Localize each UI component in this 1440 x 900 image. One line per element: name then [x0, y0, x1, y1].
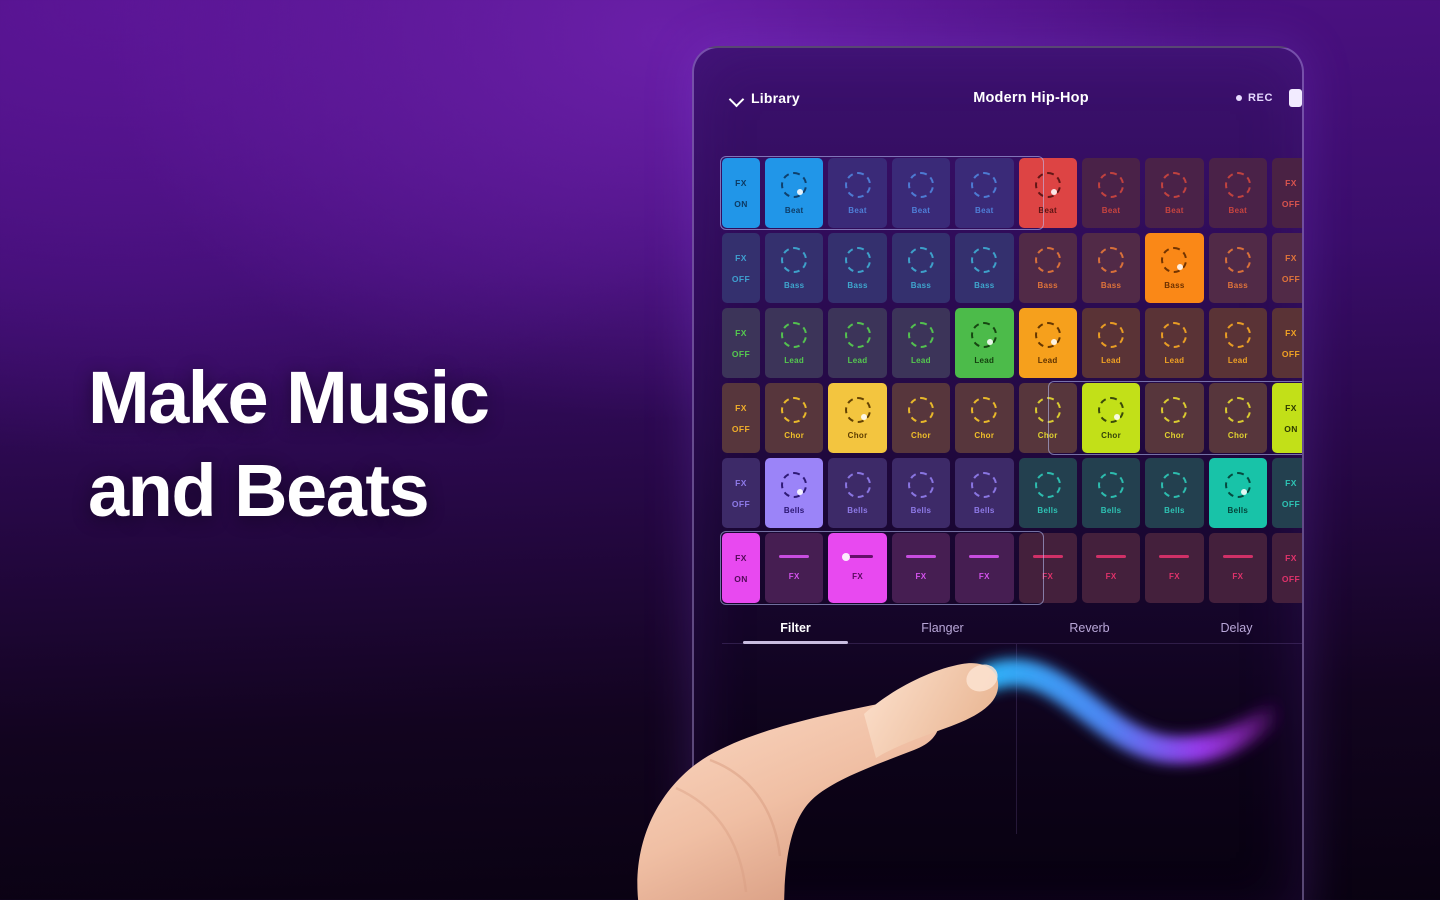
pad-fx-row-1[interactable]: FX	[765, 533, 823, 603]
slider-icon	[1223, 555, 1253, 558]
slider-icon	[843, 555, 873, 558]
knob-icon	[781, 397, 807, 423]
pad-fx-row-3[interactable]: FX	[892, 533, 950, 603]
pad-fx-row-2[interactable]: FX	[828, 533, 886, 603]
pad-lead-row-3[interactable]: Lead	[892, 308, 950, 378]
pad-beat-row-3[interactable]: Beat	[892, 158, 950, 228]
pad-label: FX	[1106, 572, 1117, 581]
fx-state: OFF	[732, 499, 750, 509]
pad-bass-row-1[interactable]: Bass	[765, 233, 823, 303]
fx-label: FX	[735, 403, 747, 413]
fx-label: FX	[735, 253, 747, 263]
pad-label: Bass	[1228, 281, 1248, 290]
pad-label: Beat	[785, 206, 804, 215]
knob-icon	[1225, 247, 1251, 273]
knob-icon	[1035, 172, 1061, 198]
knob-icon	[1161, 397, 1187, 423]
slider-icon	[1096, 555, 1126, 558]
fx-state: OFF	[732, 424, 750, 434]
pad-chord-row-4[interactable]: Chor	[955, 383, 1013, 453]
pad-label: Lead	[1038, 356, 1058, 365]
pad-bass-row-6[interactable]: Bass	[1082, 233, 1140, 303]
pad-label: FX	[789, 572, 800, 581]
pad-bass-row-4[interactable]: Bass	[955, 233, 1013, 303]
tab-label: Filter	[780, 621, 811, 635]
knob-icon	[908, 172, 934, 198]
knob-icon	[845, 472, 871, 498]
pad-beat-row-8[interactable]: Beat	[1209, 158, 1267, 228]
pad-label: Lead	[784, 356, 804, 365]
pad-label: Lead	[1228, 356, 1248, 365]
fx-label: FX	[1285, 253, 1297, 263]
fx-toggle-right-chord-row[interactable]: FXON	[1272, 383, 1304, 453]
pad-fx-row-8[interactable]: FX	[1209, 533, 1267, 603]
pad-label: Bells	[784, 506, 805, 515]
knob-icon	[971, 472, 997, 498]
pad-label: Bells	[1037, 506, 1058, 515]
knob-icon	[781, 247, 807, 273]
knob-icon	[845, 172, 871, 198]
pad-label: Chor	[1165, 431, 1185, 440]
pad-bells-row-5[interactable]: Bells	[1019, 458, 1077, 528]
pad-lead-row-1[interactable]: Lead	[765, 308, 823, 378]
app-header: Library Modern Hip-Hop REC	[730, 80, 1302, 116]
fx-toggle-left-bells-row[interactable]: FXOFF	[722, 458, 760, 528]
pad-bass-row-8[interactable]: Bass	[1209, 233, 1267, 303]
pad-bells-row-1[interactable]: Bells	[765, 458, 823, 528]
fx-state: ON	[1284, 424, 1298, 434]
pad-label: Bells	[911, 506, 932, 515]
pad-label: Chor	[784, 431, 804, 440]
knob-icon	[908, 322, 934, 348]
knob-icon	[1161, 322, 1187, 348]
pad-row-bass-row: FXOFFBassBassBassBassBassBassBassBassFXO…	[722, 233, 1304, 303]
pad-lead-row-7[interactable]: Lead	[1145, 308, 1203, 378]
knob-icon	[1098, 247, 1124, 273]
pad-label: Chor	[1101, 431, 1121, 440]
pad-label: Bass	[1164, 281, 1184, 290]
fx-label: FX	[1285, 553, 1297, 563]
record-label: REC	[1248, 92, 1273, 104]
pad-chord-row-8[interactable]: Chor	[1209, 383, 1267, 453]
knob-icon	[1161, 172, 1187, 198]
knob-icon	[908, 472, 934, 498]
fx-state: OFF	[1282, 499, 1300, 509]
hand-illustration	[588, 636, 1008, 900]
knob-icon	[1225, 322, 1251, 348]
pad-bass-row-3[interactable]: Bass	[892, 233, 950, 303]
fx-toggle-right-beat-row[interactable]: FXOFF	[1272, 158, 1304, 228]
pad-label: Lead	[974, 356, 994, 365]
fx-label: FX	[735, 478, 747, 488]
knob-icon	[781, 172, 807, 198]
fx-label: FX	[1285, 478, 1297, 488]
pad-bells-row-4[interactable]: Bells	[955, 458, 1013, 528]
fx-label: FX	[1285, 178, 1297, 188]
pad-lead-row-2[interactable]: Lead	[828, 308, 886, 378]
project-title: Modern Hip-Hop	[860, 90, 1202, 106]
pad-label: Beat	[975, 206, 994, 215]
slider-icon	[779, 555, 809, 558]
pad-row-bells-row: FXOFFBellsBellsBellsBellsBellsBellsBells…	[722, 458, 1304, 528]
record-dot-icon	[1236, 95, 1242, 101]
pad-label: Bass	[784, 281, 804, 290]
pad-row-fx-row: FXONFXFXFXFXFXFXFXFXFXOFF	[722, 533, 1304, 603]
fx-toggle-left-lead-row[interactable]: FXOFF	[722, 308, 760, 378]
pad-label: Lead	[911, 356, 931, 365]
pad-fx-row-6[interactable]: FX	[1082, 533, 1140, 603]
knob-icon	[1225, 172, 1251, 198]
pad-chord-row-6[interactable]: Chor	[1082, 383, 1140, 453]
knob-icon	[971, 397, 997, 423]
knob-icon	[971, 247, 997, 273]
knob-icon	[1161, 472, 1187, 498]
fx-state: OFF	[1282, 574, 1300, 584]
pad-fx-row-5[interactable]: FX	[1019, 533, 1077, 603]
pad-lead-row-4[interactable]: Lead	[955, 308, 1013, 378]
pad-label: FX	[852, 572, 863, 581]
fx-state: OFF	[732, 349, 750, 359]
pad-beat-row-4[interactable]: Beat	[955, 158, 1013, 228]
knob-icon	[1098, 472, 1124, 498]
pad-label: Bass	[1038, 281, 1058, 290]
pad-label: FX	[979, 572, 990, 581]
knob-icon	[845, 322, 871, 348]
pad-row-beat-row: FXONBeatBeatBeatBeatBeatBeatBeatBeatFXOF…	[722, 158, 1304, 228]
pad-bass-row-7[interactable]: Bass	[1145, 233, 1203, 303]
knob-icon	[845, 397, 871, 423]
fx-state: OFF	[1282, 349, 1300, 359]
pad-chord-row-7[interactable]: Chor	[1145, 383, 1203, 453]
pad-chord-row-1[interactable]: Chor	[765, 383, 823, 453]
pad-bells-row-7[interactable]: Bells	[1145, 458, 1203, 528]
volume-up-button[interactable]	[1302, 152, 1304, 208]
fx-toggle-right-lead-row[interactable]: FXOFF	[1272, 308, 1304, 378]
pad-fx-row-4[interactable]: FX	[955, 533, 1013, 603]
pad-chord-row-3[interactable]: Chor	[892, 383, 950, 453]
fx-state: ON	[734, 574, 748, 584]
page-headline: Make Music and Beats	[88, 362, 648, 526]
pad-label: Chor	[974, 431, 994, 440]
chevron-down-icon	[730, 92, 743, 105]
pad-label: Bass	[847, 281, 867, 290]
headline-line-2: and Beats	[88, 455, 648, 526]
fx-toggle-left-beat-row[interactable]: FXON	[722, 158, 760, 228]
slider-icon	[1033, 555, 1063, 558]
slider-icon	[969, 555, 999, 558]
pad-bells-row-8[interactable]: Bells	[1209, 458, 1267, 528]
knob-icon	[1098, 397, 1124, 423]
slider-icon	[906, 555, 936, 558]
pad-beat-row-5[interactable]: Beat	[1019, 158, 1077, 228]
pad-label: Lead	[1165, 356, 1185, 365]
pad-label: FX	[1042, 572, 1053, 581]
fx-label: FX	[1285, 403, 1297, 413]
pad-label: Beat	[848, 206, 867, 215]
knob-icon	[1225, 472, 1251, 498]
pad-lead-row-8[interactable]: Lead	[1209, 308, 1267, 378]
knob-icon	[1098, 322, 1124, 348]
fx-label: FX	[1285, 328, 1297, 338]
knob-icon	[1161, 247, 1187, 273]
fx-toggle-right-bells-row[interactable]: FXOFF	[1272, 458, 1304, 528]
pad-row-lead-row: FXOFFLeadLeadLeadLeadLeadLeadLeadLeadFXO…	[722, 308, 1304, 378]
pad-label: Beat	[1229, 206, 1248, 215]
fx-toggle-left-chord-row[interactable]: FXOFF	[722, 383, 760, 453]
knob-icon	[908, 397, 934, 423]
pad-label: Chor	[1228, 431, 1248, 440]
knob-icon	[971, 172, 997, 198]
pad-label: FX	[1232, 572, 1243, 581]
pad-label: Chor	[848, 431, 868, 440]
fx-toggle-right-fx-row[interactable]: FXOFF	[1272, 533, 1304, 603]
fx-toggle-right-bass-row[interactable]: FXOFF	[1272, 233, 1304, 303]
pad-lead-row-5[interactable]: Lead	[1019, 308, 1077, 378]
pad-bass-row-2[interactable]: Bass	[828, 233, 886, 303]
knob-icon	[781, 472, 807, 498]
knob-icon	[1035, 397, 1061, 423]
pad-label: Beat	[1038, 206, 1057, 215]
header-actions: REC	[1202, 89, 1302, 107]
pad-beat-row-2[interactable]: Beat	[828, 158, 886, 228]
pad-label: Bells	[1101, 506, 1122, 515]
pad-label: FX	[916, 572, 927, 581]
fx-state: ON	[734, 199, 748, 209]
fx-label: FX	[735, 178, 747, 188]
pad-bells-row-2[interactable]: Bells	[828, 458, 886, 528]
pad-beat-row-6[interactable]: Beat	[1082, 158, 1140, 228]
knob-icon	[781, 322, 807, 348]
pad-beat-row-7[interactable]: Beat	[1145, 158, 1203, 228]
pad-label: Lead	[848, 356, 868, 365]
pad-label: Lead	[1101, 356, 1121, 365]
fx-toggle-left-bass-row[interactable]: FXOFF	[722, 233, 760, 303]
headline-line-1: Make Music	[88, 356, 488, 439]
pad-beat-row-1[interactable]: Beat	[765, 158, 823, 228]
pad-label: FX	[1169, 572, 1180, 581]
knob-icon	[1035, 322, 1061, 348]
pad-label: Bells	[847, 506, 868, 515]
fx-toggle-left-fx-row[interactable]: FXON	[722, 533, 760, 603]
knob-icon	[1035, 247, 1061, 273]
pad-grid: FXONBeatBeatBeatBeatBeatBeatBeatBeatFXOF…	[722, 158, 1304, 603]
record-button[interactable]: REC	[1236, 92, 1273, 104]
pad-bells-row-3[interactable]: Bells	[892, 458, 950, 528]
pad-label: Chor	[1038, 431, 1058, 440]
pad-label: Bells	[1228, 506, 1249, 515]
slider-icon	[1159, 555, 1189, 558]
knob-icon	[1225, 397, 1251, 423]
pad-chord-row-2[interactable]: Chor	[828, 383, 886, 453]
pad-label: Beat	[912, 206, 931, 215]
fx-state: OFF	[732, 274, 750, 284]
pad-fx-row-7[interactable]: FX	[1145, 533, 1203, 603]
pad-label: Bells	[1164, 506, 1185, 515]
pad-label: Bass	[1101, 281, 1121, 290]
knob-icon	[1098, 172, 1124, 198]
pad-lead-row-6[interactable]: Lead	[1082, 308, 1140, 378]
fx-state: OFF	[1282, 274, 1300, 284]
knob-icon	[971, 322, 997, 348]
pad-label: Beat	[1102, 206, 1121, 215]
fx-state: OFF	[1282, 199, 1300, 209]
pad-label: Beat	[1165, 206, 1184, 215]
fx-label: FX	[735, 328, 747, 338]
library-label: Library	[751, 90, 800, 106]
knob-icon	[1035, 472, 1061, 498]
pad-row-chord-row: FXOFFChorChorChorChorChorChorChorChorFXO…	[722, 383, 1304, 453]
pad-label: Bass	[974, 281, 994, 290]
pad-bass-row-5[interactable]: Bass	[1019, 233, 1077, 303]
pad-label: Bells	[974, 506, 995, 515]
knob-icon	[845, 247, 871, 273]
knob-icon	[908, 247, 934, 273]
pad-chord-row-5[interactable]: Chor	[1019, 383, 1077, 453]
fx-label: FX	[735, 553, 747, 563]
menu-square-icon[interactable]	[1289, 89, 1302, 107]
pad-label: Chor	[911, 431, 931, 440]
pad-label: Bass	[911, 281, 931, 290]
volume-down-button[interactable]	[1302, 224, 1304, 268]
pad-bells-row-6[interactable]: Bells	[1082, 458, 1140, 528]
